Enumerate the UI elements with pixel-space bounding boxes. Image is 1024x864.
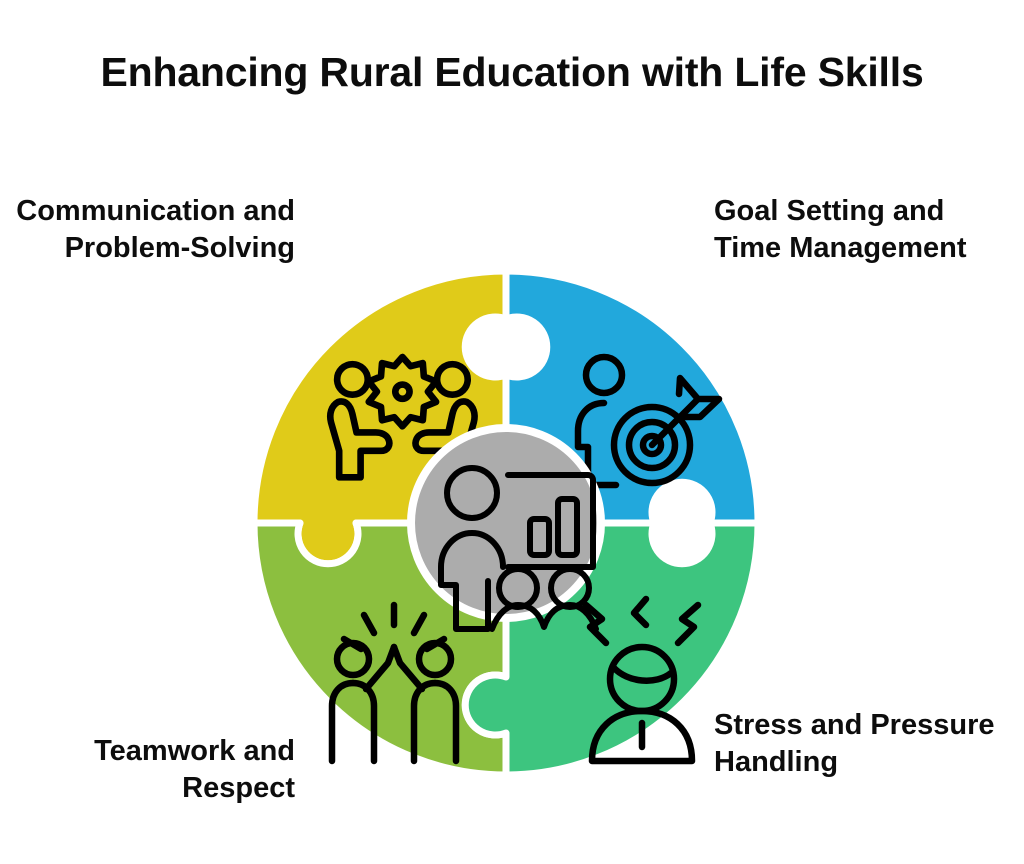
puzzle-diagram (248, 265, 764, 781)
quadrant-label-goal-setting: Goal Setting and Time Management (714, 193, 1014, 267)
center-circle[interactable] (411, 428, 601, 618)
quadrant-label-teamwork: Teamwork and Respect (10, 733, 295, 807)
puzzle-svg (248, 265, 764, 781)
page-title: Enhancing Rural Education with Life Skil… (0, 49, 1024, 96)
quadrant-label-communication: Communication and Problem-Solving (10, 193, 295, 267)
quadrant-label-stress: Stress and Pressure Handling (714, 707, 1014, 781)
